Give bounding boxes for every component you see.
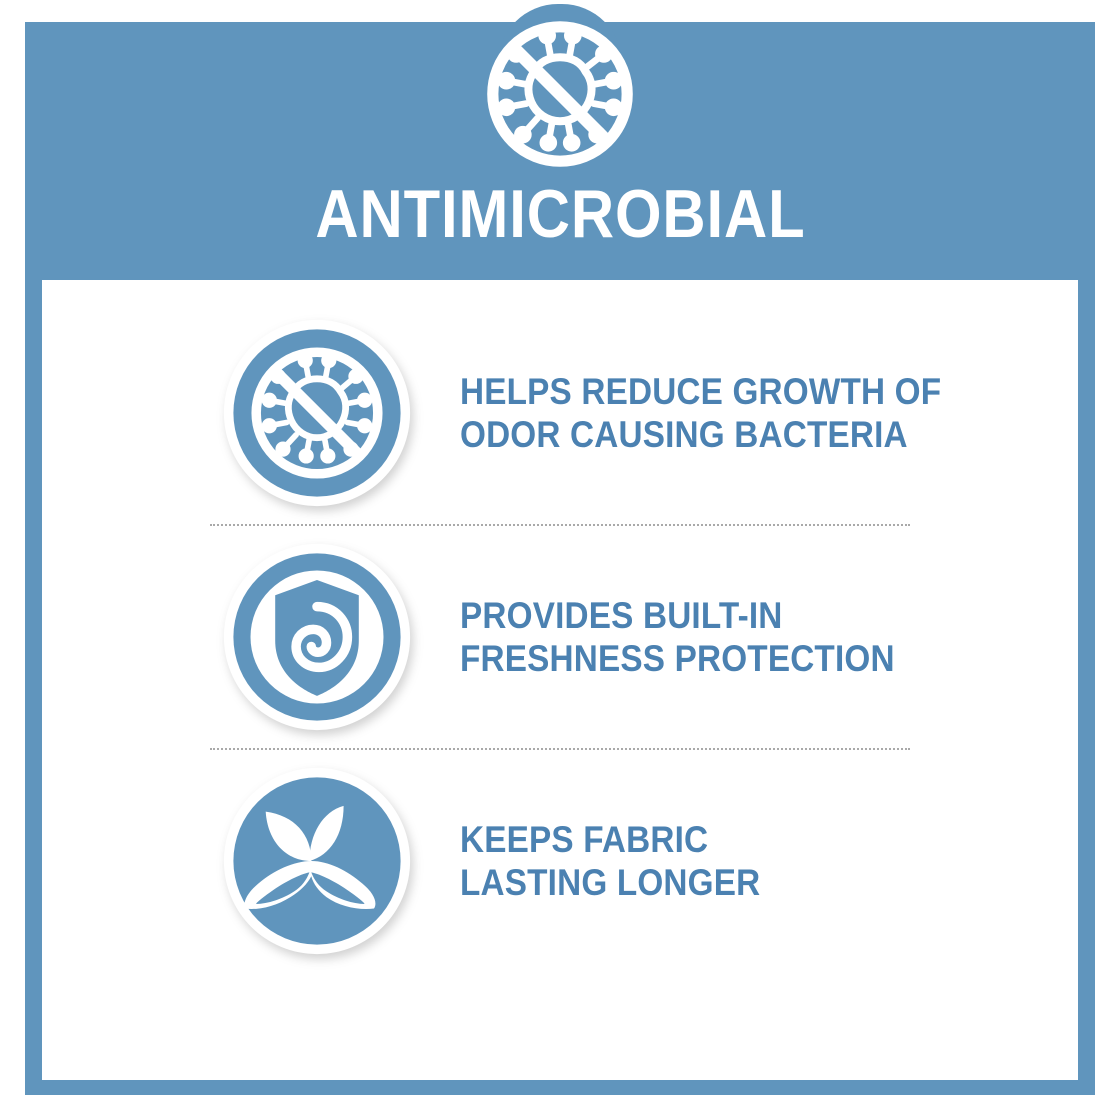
feature-text: HELPS REDUCE GROWTH OF ODOR CAUSING BACT… [460,370,941,457]
no-germ-circle-icon [222,318,412,508]
feature-text-line-1: KEEPS FABRIC [460,818,760,861]
feature-row: HELPS REDUCE GROWTH OF ODOR CAUSING BACT… [42,302,1078,524]
feature-text-line-2: FRESHNESS PROTECTION [460,637,895,680]
feature-text-line-1: PROVIDES BUILT-IN [460,594,895,637]
feature-text-line-2: ODOR CAUSING BACTERIA [460,413,941,456]
feature-text-line-2: LASTING LONGER [460,861,760,904]
feature-icon-wrapper [222,318,412,508]
features-list: HELPS REDUCE GROWTH OF ODOR CAUSING BACT… [42,280,1078,1080]
feature-icon-wrapper [222,766,412,956]
header: ANTIMICROBIAL [25,22,1095,280]
antimicrobial-infographic: ANTIMICROBIAL [0,0,1120,1120]
shield-swirl-icon [222,542,412,732]
feature-text: PROVIDES BUILT-IN FRESHNESS PROTECTION [460,594,895,681]
feature-row: KEEPS FABRIC LASTING LONGER [42,750,1078,972]
feature-row: PROVIDES BUILT-IN FRESHNESS PROTECTION [42,526,1078,748]
feature-icon-wrapper [222,542,412,732]
feature-text-line-1: HELPS REDUCE GROWTH OF [460,370,941,413]
page-title: ANTIMICROBIAL [315,180,805,248]
no-germ-icon [480,14,640,174]
feature-text: KEEPS FABRIC LASTING LONGER [460,818,760,905]
leaf-fabric-icon [222,766,412,956]
